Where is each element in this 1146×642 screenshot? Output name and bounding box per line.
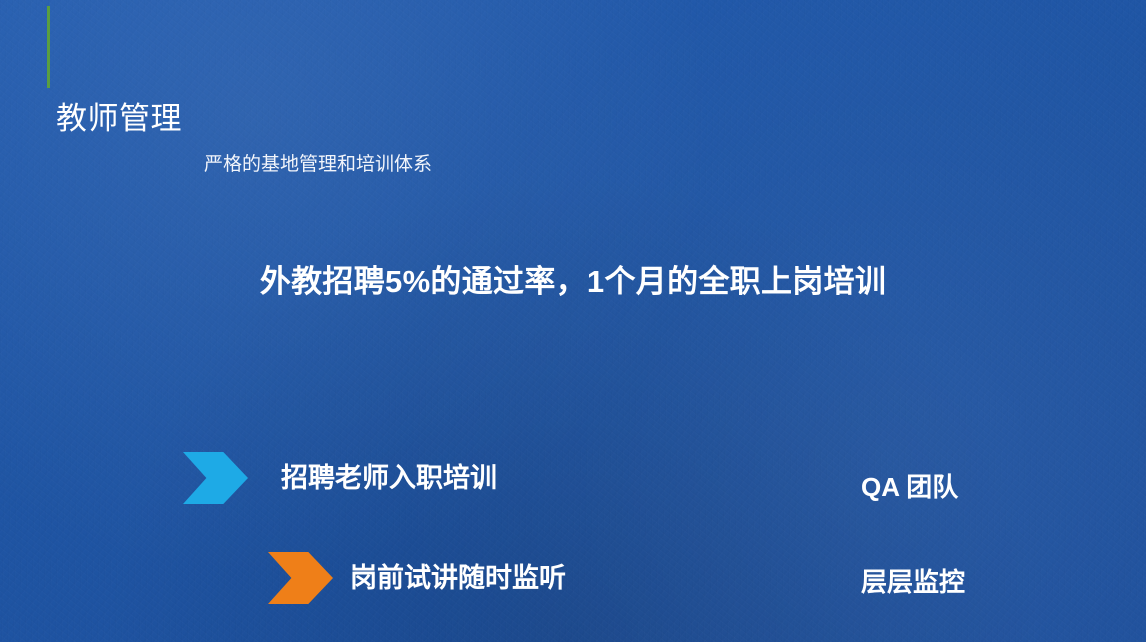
side-label: 层层监控 — [861, 564, 965, 600]
chevron-right-icon — [183, 452, 248, 504]
slide-canvas: 教师管理 严格的基地管理和培训体系 外教招聘5%的通过率，1个月的全职上岗培训 … — [0, 0, 1146, 642]
page-title: 教师管理 — [56, 99, 1146, 139]
process-row-label: 岗前试讲随时监听 — [350, 558, 566, 598]
chevron-right-icon — [268, 552, 333, 604]
header-accent-bar — [47, 6, 50, 88]
main-heading: 外教招聘5%的通过率，1个月的全职上岗培训 — [0, 260, 1146, 304]
page-subtitle: 严格的基地管理和培训体系 — [204, 152, 1146, 178]
side-label: QA 团队 — [861, 469, 958, 505]
process-row-label: 招聘老师入职培训 — [281, 458, 497, 498]
